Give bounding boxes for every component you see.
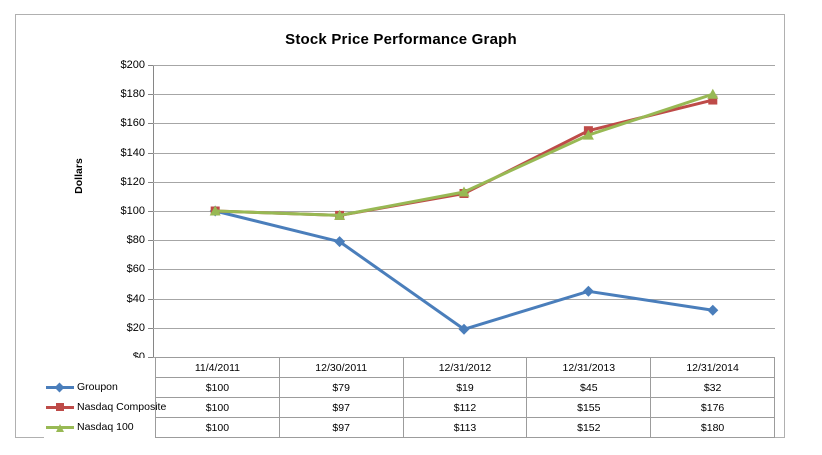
x-axis-label: 12/31/2014: [651, 358, 775, 378]
legend-entry: [44, 358, 156, 378]
data-cell: $19: [403, 378, 527, 398]
table-row: Nasdaq Composite$100$97$112$155$176: [44, 398, 775, 418]
y-axis-label: $160: [85, 117, 145, 129]
table-row: Groupon$100$79$19$45$32: [44, 378, 775, 398]
legend-label: Groupon: [77, 382, 118, 393]
series-nasdaq-composite: [211, 96, 718, 220]
data-cell: $97: [279, 398, 403, 418]
series-groupon: [210, 206, 719, 335]
x-axis-label: 11/4/2011: [156, 358, 280, 378]
data-cell: $45: [527, 378, 651, 398]
y-axis-label: $200: [85, 59, 145, 71]
y-axis-label: $120: [85, 176, 145, 188]
series-line: [215, 211, 713, 329]
data-cell: $180: [651, 418, 775, 438]
data-cell: $176: [651, 398, 775, 418]
data-point-marker: [707, 89, 718, 99]
data-point-marker: [707, 305, 718, 316]
y-axis-label: $140: [85, 147, 145, 159]
y-axis-label: $80: [85, 234, 145, 246]
data-point-marker: [583, 286, 594, 297]
data-cell: $32: [651, 378, 775, 398]
plot-area: $0$20$40$60$80$100$120$140$160$180$200: [153, 65, 775, 357]
data-cell: $113: [403, 418, 527, 438]
data-cell: $155: [527, 398, 651, 418]
legend-swatch-triangle-icon: [46, 422, 74, 433]
x-axis-label: 12/30/2011: [279, 358, 403, 378]
chart-container: Stock Price Performance Graph Dollars $0…: [15, 14, 785, 438]
table-row: Nasdaq 100$100$97$113$152$180: [44, 418, 775, 438]
chart-title: Stock Price Performance Graph: [16, 31, 786, 48]
legend-label: Nasdaq Composite: [77, 402, 166, 413]
x-axis-label: 12/31/2013: [527, 358, 651, 378]
data-cell: $100: [156, 398, 280, 418]
data-cell: $100: [156, 378, 280, 398]
series-nasdaq-100: [210, 89, 719, 220]
y-axis-label: $60: [85, 263, 145, 275]
legend-swatch-square-icon: [46, 402, 74, 413]
data-table-body: 11/4/201112/30/201112/31/201212/31/20131…: [44, 358, 775, 438]
table-header-row: 11/4/201112/30/201112/31/201212/31/20131…: [44, 358, 775, 378]
data-cell: $100: [156, 418, 280, 438]
series-layer: [153, 65, 775, 357]
data-cell: $97: [279, 418, 403, 438]
y-axis-title: Dollars: [73, 126, 85, 226]
y-axis-label: $100: [85, 205, 145, 217]
data-cell: $112: [403, 398, 527, 418]
y-axis-label: $40: [85, 293, 145, 305]
data-cell: $79: [279, 378, 403, 398]
legend-entry: Groupon: [44, 378, 156, 398]
data-table: 11/4/201112/30/201112/31/201212/31/20131…: [44, 357, 775, 438]
legend-entry: Nasdaq Composite: [44, 398, 156, 418]
legend-label: Nasdaq 100: [77, 422, 134, 433]
legend-entry: Nasdaq 100: [44, 418, 156, 438]
x-axis-label: 12/31/2012: [403, 358, 527, 378]
y-axis-label: $20: [85, 322, 145, 334]
data-cell: $152: [527, 418, 651, 438]
legend-swatch-diamond-icon: [46, 382, 74, 393]
y-axis-label: $180: [85, 88, 145, 100]
